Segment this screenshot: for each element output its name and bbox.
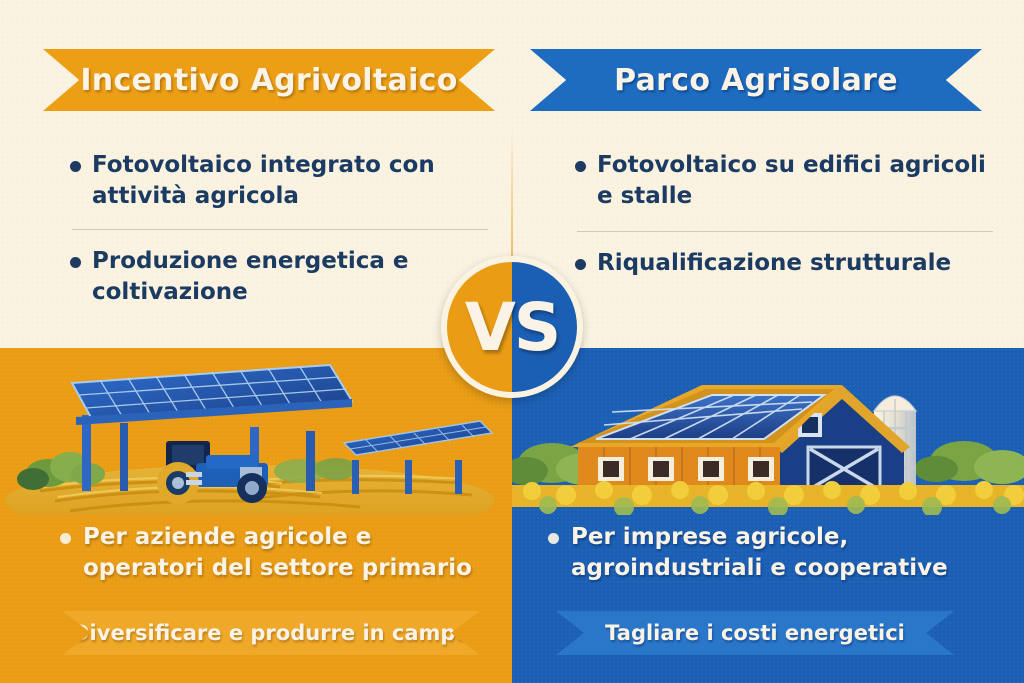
list-item: Produzione energetica e coltivazione bbox=[70, 246, 490, 308]
right-footer-ribbon: Tagliare i costi energetici bbox=[556, 611, 954, 655]
list-item: Per imprese agricole, agroindustriali e … bbox=[548, 522, 988, 585]
right-bullet-divider bbox=[577, 231, 993, 232]
bullet-dot-icon bbox=[70, 161, 81, 172]
list-item: Per aziende agricole e operatori del set… bbox=[60, 522, 500, 585]
left-title-text: Incentivo Agrivoltaico bbox=[80, 63, 457, 98]
left-bottom-bullet-list: Per aziende agricole e operatori del set… bbox=[60, 522, 500, 585]
left-top-bullet-2: Produzione energetica e coltivazione bbox=[92, 246, 490, 308]
right-footer-ribbon-text: Tagliare i costi energetici bbox=[605, 621, 905, 645]
versus-badge-label: VS bbox=[465, 289, 560, 366]
list-item: Riqualificazione strutturale bbox=[575, 248, 995, 279]
bullet-dot-icon bbox=[70, 257, 81, 268]
bullet-dot-icon bbox=[548, 533, 559, 544]
left-footer-ribbon-text: Diversificare e produrre in campo bbox=[72, 621, 470, 645]
left-footer-ribbon: Diversificare e produrre in campo bbox=[62, 611, 480, 655]
bullet-dot-icon bbox=[60, 533, 71, 544]
left-bullet-divider bbox=[72, 229, 488, 230]
right-bottom-bullet-list: Per imprese agricole, agroindustriali e … bbox=[548, 522, 988, 585]
bullet-dot-icon bbox=[575, 161, 586, 172]
infographic-comparison: Incentivo Agrivoltaico Parco Agrisolare … bbox=[0, 0, 1024, 683]
left-bottom-bullet-1: Per aziende agricole e operatori del set… bbox=[83, 522, 500, 585]
right-illustration-solar-barn bbox=[512, 355, 1024, 515]
right-top-bullet-2: Riqualificazione strutturale bbox=[597, 248, 951, 279]
right-title-text: Parco Agrisolare bbox=[614, 63, 898, 98]
list-item: Fotovoltaico su edifici agricoli e stall… bbox=[575, 150, 995, 212]
right-bottom-bullet-1: Per imprese agricole, agroindustriali e … bbox=[571, 522, 988, 585]
left-top-bullet-list: Fotovoltaico integrato con attività agri… bbox=[70, 150, 490, 308]
left-title-banner: Incentivo Agrivoltaico bbox=[43, 49, 495, 111]
solar-barn-scene-icon bbox=[512, 355, 1024, 515]
left-top-bullet-1: Fotovoltaico integrato con attività agri… bbox=[92, 150, 490, 212]
right-title-banner: Parco Agrisolare bbox=[530, 49, 982, 111]
right-top-bullet-1: Fotovoltaico su edifici agricoli e stall… bbox=[597, 150, 995, 212]
agrivoltaic-scene-icon bbox=[0, 355, 512, 515]
left-illustration-agrivoltaic-field bbox=[0, 355, 512, 515]
list-item: Fotovoltaico integrato con attività agri… bbox=[70, 150, 490, 212]
right-top-bullet-list: Fotovoltaico su edifici agricoli e stall… bbox=[575, 150, 995, 279]
